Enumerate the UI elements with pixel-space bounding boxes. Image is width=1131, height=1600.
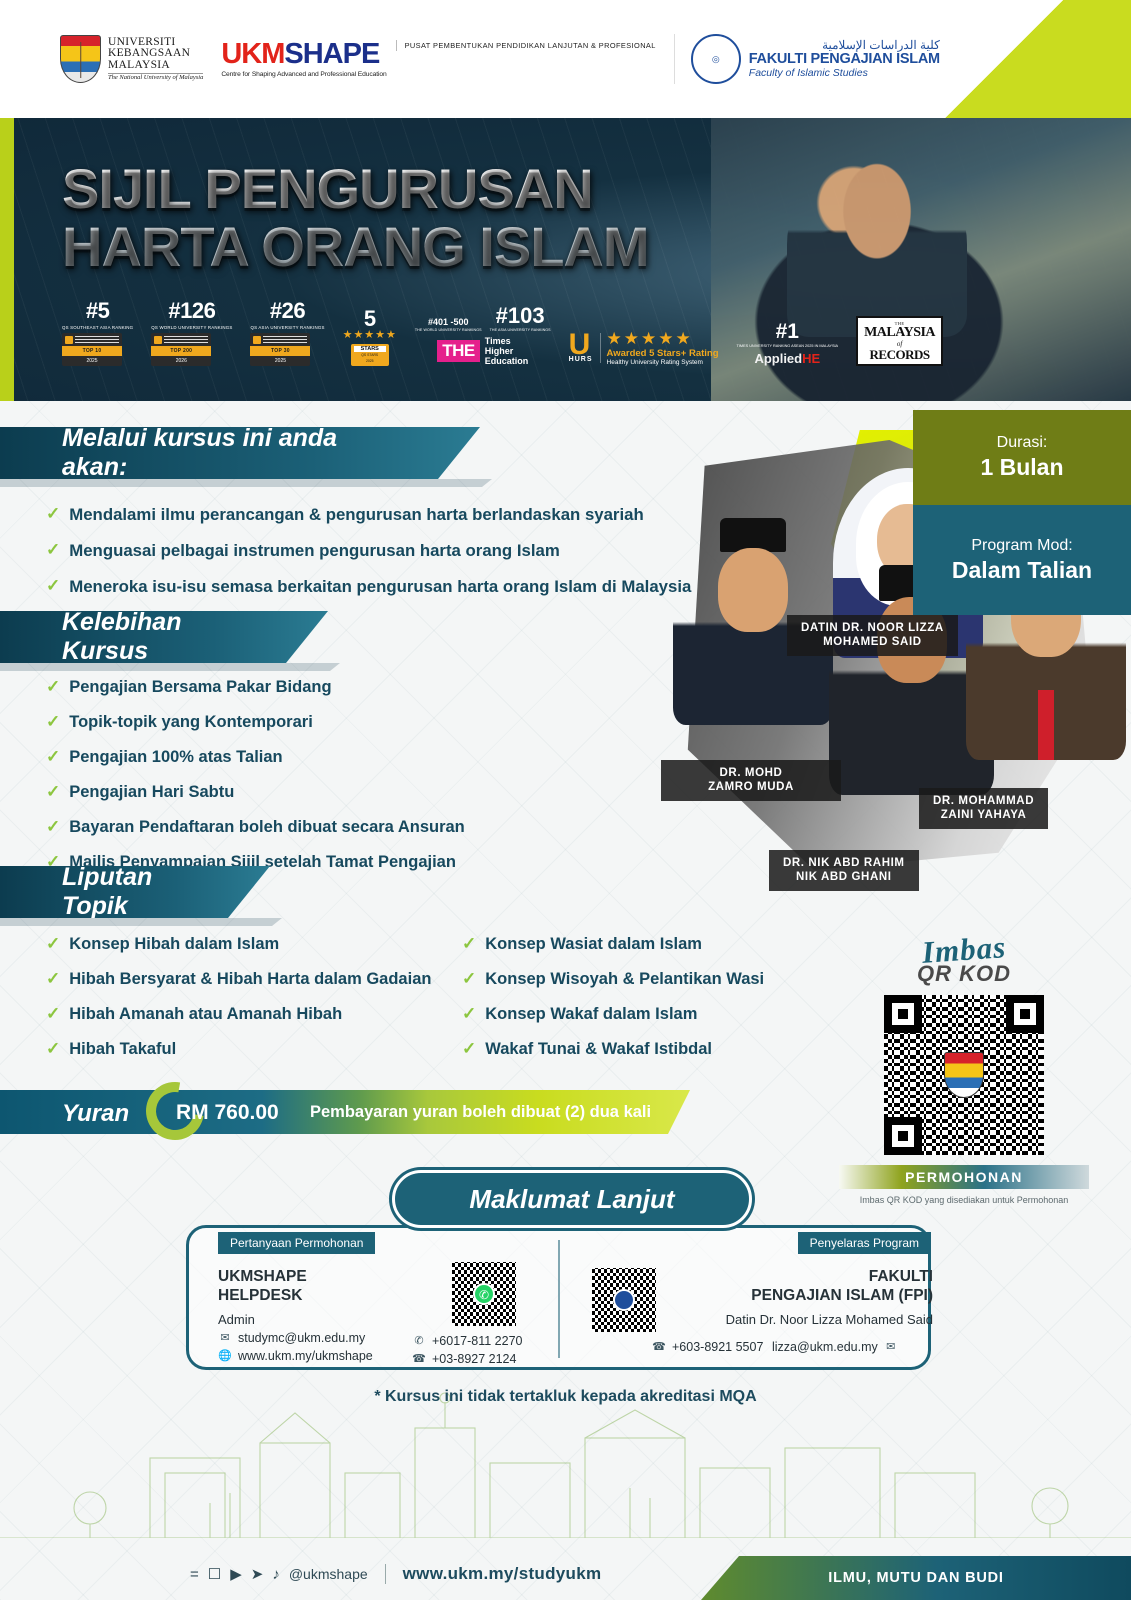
list-item: ✓Menguasai pelbagai instrumen pengurusan… — [46, 541, 691, 561]
list-item-label: Hibah Amanah atau Amanah Hibah — [69, 1005, 342, 1024]
list-item: ✓Pengajian 100% atas Talian — [46, 748, 465, 767]
badge-year: 2025 — [250, 356, 310, 366]
shape-logo-desc: PUSAT PEMBENTUKAN PENDIDIKAN LANJUTAN & … — [396, 40, 656, 51]
mode-panel: Program Mod: Dalam Talian — [913, 505, 1131, 615]
whatsapp-icon: ✆ — [412, 1334, 426, 1348]
applied-logo-a: Applied — [754, 351, 802, 366]
badge-qs-asia: #26 QS ASIA UNIVERSITY RANKINGS TOP 30 2… — [250, 300, 324, 366]
email-icon: ✉ — [218, 1331, 232, 1345]
mode-label: Program Mod: — [971, 537, 1072, 555]
list-item-label: Meneroka isu-isu semasa berkaitan pengur… — [69, 577, 691, 597]
mbr-malaysia: MALAYSIA — [864, 326, 935, 340]
contact-right-name: FAKULTI PENGAJIAN ISLAM (FPI) — [603, 1268, 933, 1305]
ukmshape-logo: UKMSHAPE Centre for Shaping Advanced and… — [221, 40, 655, 78]
phone-icon: ☎ — [412, 1352, 426, 1366]
fee-label: Yuran — [62, 1100, 129, 1128]
list-item: ✓Konsep Wakaf dalam Islam — [462, 1005, 764, 1024]
contact-left-phones: ✆+6017-811 2270 ☎+03-8927 2124 — [412, 1330, 562, 1366]
list-item-label: Pengajian 100% atas Talian — [69, 748, 282, 767]
hero-banner: SIJIL PENGURUSANHARTA ORANG ISLAM #5 QS … — [0, 118, 1131, 401]
list-item: ✓Hibah Amanah atau Amanah Hibah — [46, 1005, 431, 1024]
badge-band: TOP 10 — [62, 346, 122, 356]
check-icon: ✓ — [462, 1040, 476, 1058]
whatsapp-qr-code[interactable]: ✆ — [452, 1262, 516, 1326]
list-item: ✓Hibah Takaful — [46, 1040, 431, 1059]
list-item-label: Topik-topik yang Kontemporari — [69, 713, 313, 732]
section-heading-intro: Melalui kursus ini anda akan: — [0, 427, 480, 479]
intro-bullet-list: ✓Mendalami ilmu perancangan & pengurusan… — [46, 505, 691, 613]
kelebihan-bullet-list: ✓Pengajian Bersama Pakar Bidang ✓Topik-t… — [46, 678, 465, 888]
permohonan-bar: PERMOHONAN — [839, 1165, 1089, 1189]
footer-url[interactable]: www.ukm.my/studyukm — [403, 1564, 602, 1584]
duration-panel: Durasi: 1 Bulan — [913, 410, 1131, 505]
badge-year: 2025 — [62, 356, 122, 366]
the-name-2: Higher — [485, 346, 529, 356]
check-icon: ✓ — [46, 935, 60, 953]
speaker-name-nik-abd-rahim: DR. NIK ABD RAHIM NIK ABD GHANI — [769, 850, 919, 891]
check-icon: ✓ — [46, 577, 60, 595]
qr-finder-icon — [884, 1117, 922, 1155]
fee-amount: RM 760.00 — [176, 1101, 279, 1125]
tiktok-icon[interactable]: ♪ — [272, 1566, 280, 1583]
list-item-label: Konsep Wisoyah & Pelantikan Wasi — [485, 970, 764, 989]
hurs-mark-label: HURS — [569, 357, 593, 363]
section-heading-liputan: Liputan Topik — [0, 866, 270, 918]
badge-band: TOP 200 — [151, 346, 211, 356]
applied-rank: #1 — [737, 321, 839, 342]
footer-divider — [385, 1564, 386, 1584]
mode-value: Dalam Talian — [952, 557, 1092, 584]
liputan-list-left: ✓Konsep Hibah dalam Islam ✓Hibah Bersyar… — [46, 935, 431, 1075]
check-icon: ✓ — [46, 1005, 60, 1023]
badge-year: 2026 — [151, 356, 211, 366]
shape-logo-shape: SHAPE — [284, 38, 379, 70]
face-shape — [718, 548, 788, 632]
speaker-name-mohd-zamro: DR. MOHD ZAMRO MUDA — [661, 760, 841, 801]
list-item-label: Pengajian Bersama Pakar Bidang — [69, 678, 331, 697]
the-logo-icon: THE — [437, 340, 480, 362]
title-line-2: HARTA ORANG ISLAM — [62, 215, 649, 278]
contact-left-phone1[interactable]: ✆+6017-811 2270 — [412, 1334, 562, 1348]
the-rank: #103 — [496, 303, 545, 328]
applied-caption: TIMES UNIVERSITY RANKING ASEAN 2025 IN M… — [737, 344, 839, 349]
check-icon: ✓ — [46, 748, 60, 766]
hurs-logo-icon: U HURS — [569, 333, 601, 363]
list-item-label: Pengajian Hari Sabtu — [69, 783, 234, 802]
fpi-seal-icon: ◎ — [691, 34, 741, 84]
ranking-badges: #5 QS SOUTHEAST ASIA RANKING TOP 10 2025… — [62, 300, 943, 366]
badge-rank: #5 — [62, 300, 133, 322]
hero-left-accent — [0, 118, 14, 401]
ribbon-shadow-kelebihan — [0, 663, 340, 671]
list-item: ✓Wakaf Tunai & Wakaf Istibdal — [462, 1040, 764, 1059]
badge-malaysia-book-of-records: THE MALAYSIA of RECORDS — [856, 316, 943, 366]
list-item-label: Hibah Bersyarat & Hibah Harta dalam Gada… — [69, 970, 431, 989]
ukm-crest-icon — [944, 1052, 984, 1098]
social-handle: @ukmshape — [289, 1566, 368, 1582]
contact-tag-left: Pertanyaan Permohonan — [218, 1232, 375, 1254]
hurs-stars-icon: ★★★★★ — [607, 330, 719, 347]
shape-logo-subtitle: Centre for Shaping Advanced and Professi… — [221, 71, 386, 78]
applied-he-logo-icon: AppliedHE — [737, 351, 839, 366]
the-name-1: Times — [485, 336, 529, 346]
ribbon-shadow-intro — [0, 479, 492, 487]
list-item-label: Hibah Takaful — [69, 1040, 176, 1059]
the-rank-small: #401 -500 — [428, 317, 469, 327]
list-item: ✓Topik-topik yang Kontemporari — [46, 713, 465, 732]
qs-logo-icon: TOP 10 2025 — [62, 333, 122, 366]
whatsapp-icon: ✆ — [473, 1283, 495, 1305]
list-item: ✓Konsep Hibah dalam Islam — [46, 935, 431, 954]
list-item-label: Mendalami ilmu perancangan & pengurusan … — [69, 505, 643, 525]
globe-icon: 🌐 — [218, 1349, 232, 1363]
duration-label: Durasi: — [997, 434, 1048, 452]
badge-caption: QS SOUTHEAST ASIA RANKING — [62, 325, 133, 330]
permohonan-caption: Imbas QR KOD yang disediakan untuk Permo… — [839, 1195, 1089, 1205]
contact-left-phone2[interactable]: ☎+03-8927 2124 — [412, 1352, 562, 1366]
badge-rank: #26 — [250, 300, 324, 322]
contact-right-phone-value: +603-8921 5507 — [672, 1340, 763, 1354]
phone-icon: ☎ — [652, 1340, 666, 1354]
check-icon: ✓ — [462, 935, 476, 953]
badge-times-higher-education: #401 -500 THE WORLD UNIVERSITY RANKINGS … — [415, 305, 551, 366]
ribbon-shadow-liputan — [0, 918, 282, 926]
check-icon: ✓ — [46, 505, 60, 523]
list-item-label: Bayaran Pendaftaran boleh dibuat secara … — [69, 818, 465, 837]
check-icon: ✓ — [462, 970, 476, 988]
contact-left-phone2-value: +03-8927 2124 — [432, 1352, 516, 1366]
header-corner-accent — [911, 0, 1131, 118]
badge-hurs: U HURS ★★★★★ Awarded 5 Stars+ Rating Hea… — [569, 330, 719, 366]
contact-card-title: Maklumat Lanjut — [392, 1170, 752, 1228]
list-item-label: Konsep Wasiat dalam Islam — [485, 935, 702, 954]
qr-finder-icon — [1006, 995, 1044, 1033]
qs-stars-plaque: STARS QS STARS 2025 — [351, 344, 389, 367]
badge-caption: QS ASIA UNIVERSITY RANKINGS — [250, 325, 324, 330]
badge-rank: 5 — [343, 308, 397, 330]
qr-application-area[interactable]: Imbas QR KOD PERMOHONAN Imbas QR KOD yan… — [839, 935, 1089, 1205]
hurs-awarded: Awarded 5 Stars+ Rating — [607, 348, 719, 359]
ukm-line3: MALAYSIA — [108, 60, 203, 72]
badge-band: TOP 30 — [250, 346, 310, 356]
qs-logo-icon: TOP 200 2026 — [151, 333, 211, 366]
liputan-list-right: ✓Konsep Wasiat dalam Islam ✓Konsep Wisoy… — [462, 935, 764, 1075]
mqa-note: * Kursus ini tidak tertakluk kepada akre… — [0, 1388, 1131, 1406]
list-item-label: Konsep Hibah dalam Islam — [69, 935, 279, 954]
badge-qs-stars: 5 ★★★★★ STARS QS STARS 2025 — [343, 308, 397, 367]
poster-root: UNIVERSITI KEBANGSAAN MALAYSIA The Natio… — [0, 0, 1131, 1600]
contact-tag-right: Penyelaras Program — [798, 1232, 931, 1254]
duration-value: 1 Bulan — [980, 454, 1063, 481]
badge-caption: QS WORLD UNIVERSITY RANKINGS — [151, 325, 232, 330]
footer-motto: ILMU, MUTU DAN BUDI — [701, 1556, 1131, 1600]
mbr-records: RECORDS — [864, 348, 935, 361]
hurs-system: Healthy University Rating System — [607, 359, 719, 366]
check-icon: ✓ — [46, 970, 60, 988]
qs-logo-icon: TOP 30 2025 — [250, 333, 310, 366]
songkok-icon — [720, 518, 786, 552]
check-icon: ✓ — [46, 713, 60, 731]
badge-qs-world: #126 QS WORLD UNIVERSITY RANKINGS TOP 20… — [151, 300, 232, 366]
list-item: ✓Pengajian Bersama Pakar Bidang — [46, 678, 465, 697]
contact-right-email-value: lizza@ukm.edu.my — [772, 1340, 878, 1354]
fpi-logo: ◎ كلية الدراسات الإسلامية FAKULTI PENGAJ… — [674, 34, 940, 84]
list-item: ✓Bayaran Pendaftaran boleh dibuat secara… — [46, 818, 465, 837]
list-item: ✓Pengajian Hari Sabtu — [46, 783, 465, 802]
list-item-label: Konsep Wakaf dalam Islam — [485, 1005, 697, 1024]
list-item: ✓Mendalami ilmu perancangan & pengurusan… — [46, 505, 691, 525]
campus-skyline-illustration — [0, 1388, 1131, 1538]
contact-right-phone[interactable]: ☎+603-8921 5507 — [652, 1336, 763, 1354]
ukm-tagline: The National University of Malaysia — [108, 73, 203, 82]
check-icon: ✓ — [462, 1005, 476, 1023]
speaker-name-noor-lizza: DATIN DR. NOOR LIZZA MOHAMED SAID — [787, 615, 958, 656]
instagram-icon[interactable]: ☐ — [208, 1565, 221, 1583]
contact-right-person: Datin Dr. Noor Lizza Mohamed Said — [603, 1312, 933, 1327]
list-item: ✓Konsep Wisoyah & Pelantikan Wasi — [462, 970, 764, 989]
contact-left-email-value: studymc@ukm.edu.my — [238, 1331, 365, 1345]
qr-finder-icon — [884, 995, 922, 1033]
check-icon: ✓ — [46, 818, 60, 836]
ukm-crest-icon — [60, 35, 101, 83]
speaker-name-mohammad-zaini: DR. MOHAMMAD ZAINI YAHAYA — [919, 788, 1048, 829]
list-item: ✓Meneroka isu-isu semasa berkaitan pengu… — [46, 577, 691, 597]
stars-icon: ★★★★★ — [343, 330, 397, 341]
telegram-icon[interactable]: ➤ — [251, 1565, 264, 1583]
list-item: ✓Konsep Wasiat dalam Islam — [462, 935, 764, 954]
applied-logo-he: HE — [802, 351, 820, 366]
email-icon: ✉ — [884, 1340, 898, 1354]
list-item-label: Menguasai pelbagai instrumen pengurusan … — [69, 541, 560, 561]
ukm-logo: UNIVERSITI KEBANGSAAN MALAYSIA The Natio… — [60, 35, 203, 83]
fee-banner: Yuran RM 760.00 Pembayaran yuran boleh d… — [0, 1082, 700, 1140]
the-caption-small: THE WORLD UNIVERSITY RANKINGS — [415, 329, 482, 333]
check-icon: ✓ — [46, 1040, 60, 1058]
page-title: SIJIL PENGURUSANHARTA ORANG ISLAM — [62, 160, 649, 275]
badge-qs-sea: #5 QS SOUTHEAST ASIA RANKING TOP 10 2025 — [62, 300, 133, 366]
contact-right-email[interactable]: lizza@ukm.edu.my✉ — [772, 1336, 898, 1354]
list-item-label: Wakaf Tunai & Wakaf Istibdal — [485, 1040, 712, 1059]
header-logos: UNIVERSITI KEBANGSAAN MALAYSIA The Natio… — [0, 0, 1131, 118]
fee-note: Pembayaran yuran boleh dibuat (2) dua ka… — [310, 1103, 651, 1122]
badge-applied-he: #1 TIMES UNIVERSITY RANKING ASEAN 2025 I… — [737, 321, 839, 366]
application-qr-code[interactable] — [884, 995, 1044, 1155]
badge-rank: #126 — [151, 300, 232, 322]
youtube-icon[interactable]: ▶ — [230, 1565, 242, 1583]
the-caption: THE ASIA UNIVERSITY RANKINGS — [490, 329, 551, 333]
badge-year: 2025 — [351, 358, 389, 364]
shape-logo-ukm: UKM — [221, 38, 284, 70]
contact-left-website-value: www.ukm.my/ukmshape — [238, 1349, 373, 1363]
footer: = ☐ ▶ ➤ ♪ @ukmshape www.ukm.my/studyukm … — [0, 1548, 1131, 1600]
facebook-icon[interactable]: = — [190, 1566, 199, 1583]
check-icon: ✓ — [46, 783, 60, 801]
section-heading-kelebihan: Kelebihan Kursus — [0, 611, 328, 663]
the-name-3: Education — [485, 356, 529, 366]
contact-right: FAKULTI PENGAJIAN ISLAM (FPI) Datin Dr. … — [603, 1268, 933, 1327]
contact-left-phone1-value: +6017-811 2270 — [432, 1334, 522, 1348]
check-icon: ✓ — [46, 678, 60, 696]
title-line-1: SIJIL PENGURUSAN — [62, 157, 593, 220]
list-item: ✓Hibah Bersyarat & Hibah Harta dalam Gad… — [46, 970, 431, 989]
check-icon: ✓ — [46, 541, 60, 559]
